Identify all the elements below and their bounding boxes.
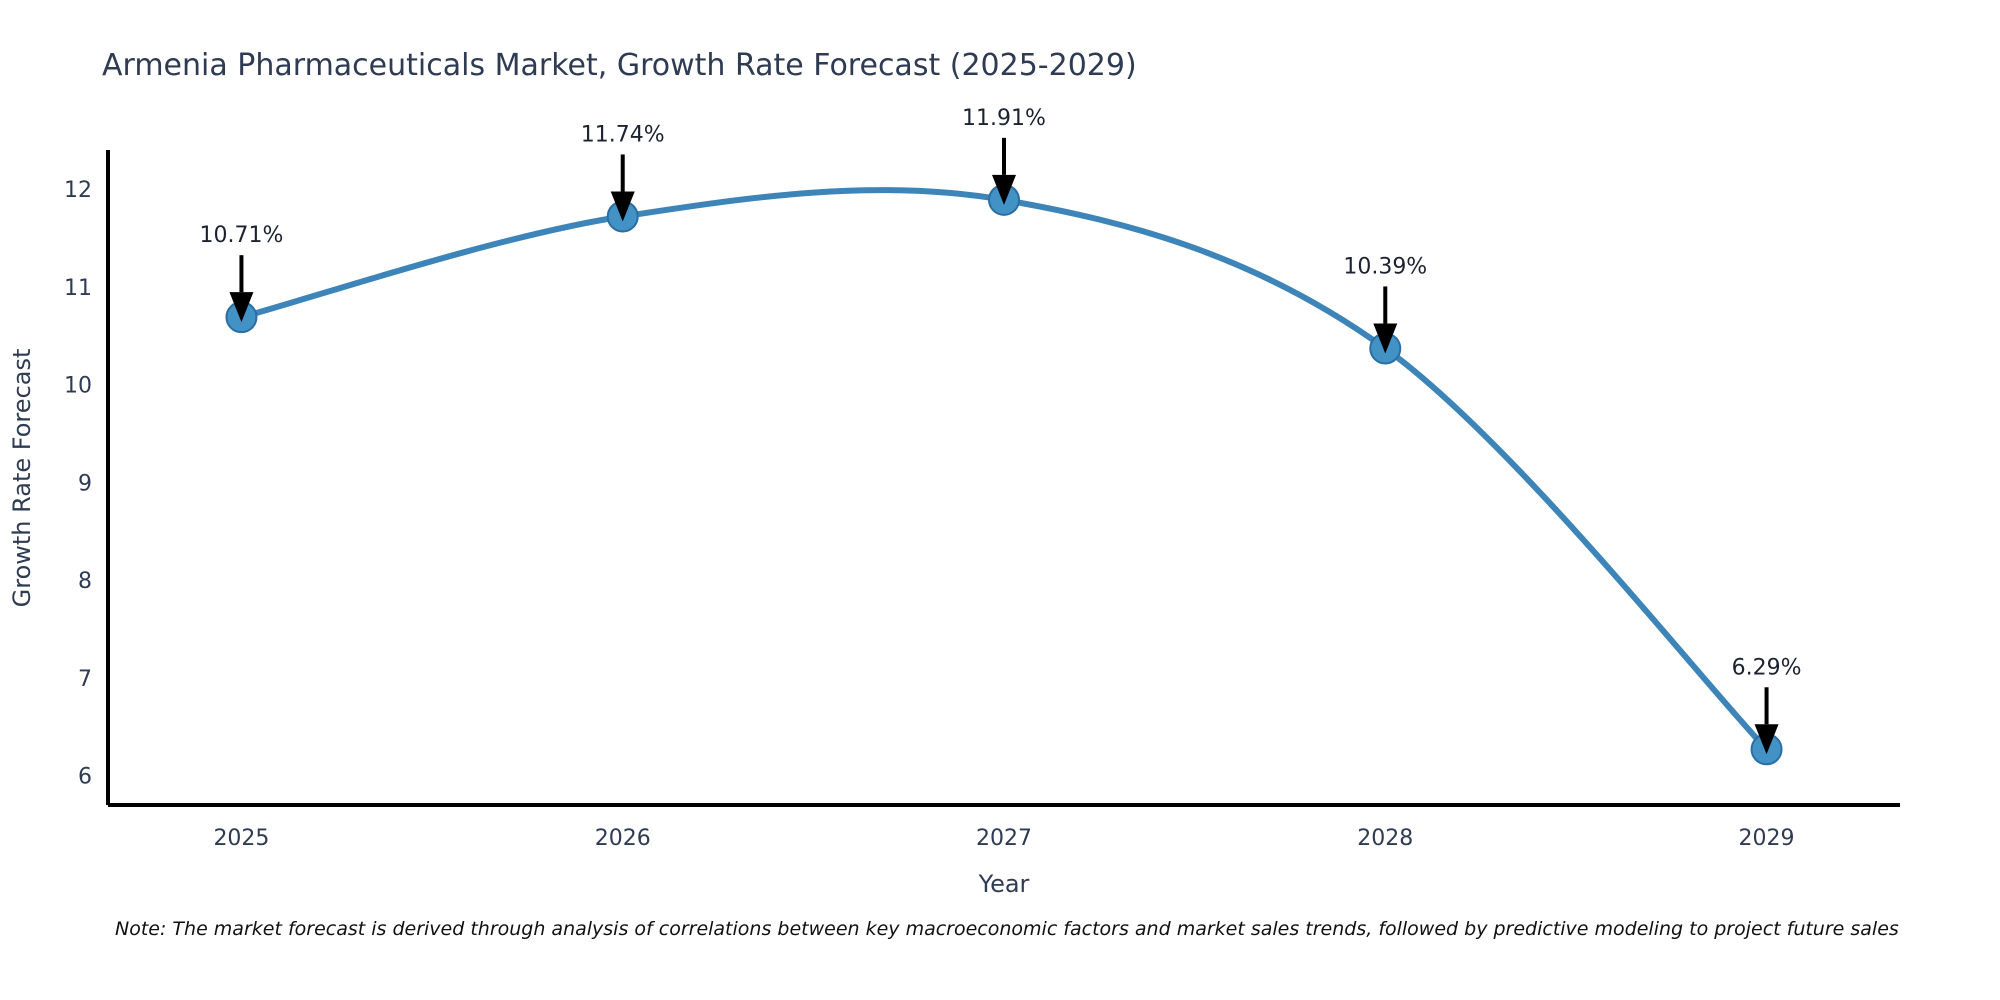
line-chart: Armenia Pharmaceuticals Market, Growth R… xyxy=(0,0,2000,1000)
data-label-2027: 11.91% xyxy=(962,106,1046,131)
data-label-2025: 10.71% xyxy=(200,223,284,248)
data-label-2026: 11.74% xyxy=(581,122,665,147)
x-tick-label-2027: 2027 xyxy=(976,826,1032,851)
y-tick-label-12: 12 xyxy=(64,178,92,203)
y-tick-label-10: 10 xyxy=(64,374,92,399)
y-axis-title: Growth Rate Forecast xyxy=(8,349,36,608)
data-label-2028: 10.39% xyxy=(1343,254,1427,279)
y-tick-label-6: 6 xyxy=(78,765,92,790)
chart-title: Armenia Pharmaceuticals Market, Growth R… xyxy=(102,48,1137,83)
y-tick-label-8: 8 xyxy=(78,569,92,594)
chart-note: Note: The market forecast is derived thr… xyxy=(115,918,1899,940)
x-tick-label-2028: 2028 xyxy=(1357,826,1413,851)
y-tick-label-11: 11 xyxy=(64,276,92,301)
x-tick-label-2029: 2029 xyxy=(1739,826,1795,851)
y-tick-label-9: 9 xyxy=(78,471,92,496)
x-tick-label-2025: 2025 xyxy=(213,826,269,851)
x-axis-title: Year xyxy=(978,870,1030,898)
y-tick-label-7: 7 xyxy=(78,667,92,692)
chart-figure: Armenia Pharmaceuticals Market, Growth R… xyxy=(0,0,2000,1000)
x-tick-label-2026: 2026 xyxy=(595,826,651,851)
data-label-2029: 6.29% xyxy=(1732,655,1802,680)
